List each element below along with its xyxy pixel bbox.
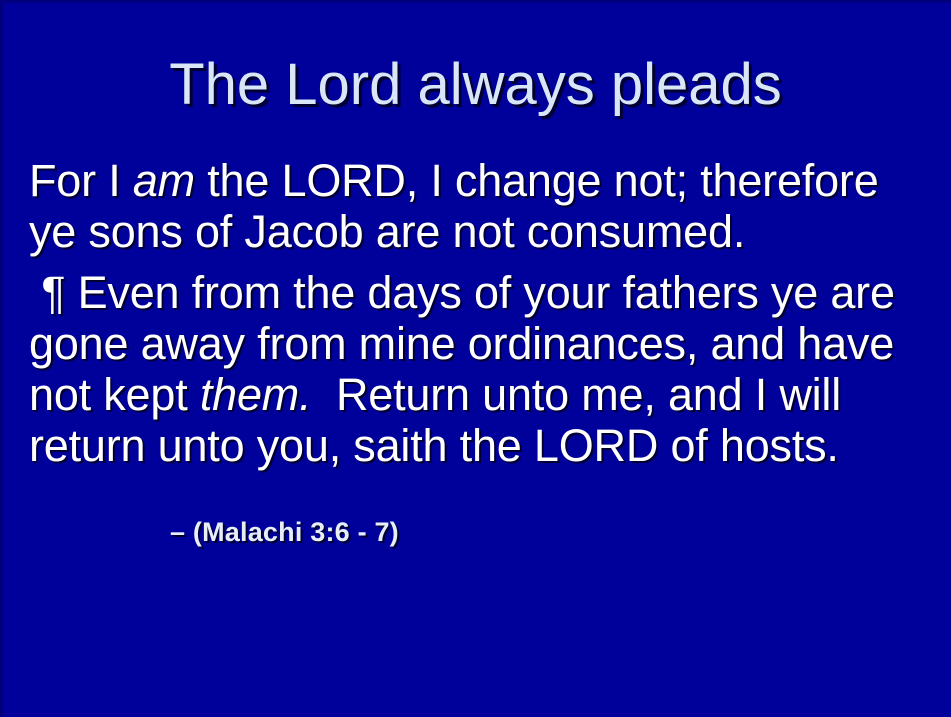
scripture-paragraph-1: For I am the LORD, I change not; therefo… — [29, 155, 921, 257]
slide-top-edge — [0, 0, 951, 3]
scripture-citation: – (Malachi 3:6 - 7) — [170, 517, 399, 548]
slide-title: The Lord always pleads — [0, 56, 951, 114]
text-run-italic: them. — [200, 369, 312, 420]
slide-body: For I am the LORD, I change not; therefo… — [29, 155, 921, 471]
text-run: For I — [29, 155, 133, 206]
scripture-paragraph-2: ¶ Even from the days of your fathers ye … — [29, 267, 921, 471]
presentation-slide: The Lord always pleads For I am the LORD… — [0, 0, 951, 717]
text-run-italic: am — [133, 155, 195, 206]
